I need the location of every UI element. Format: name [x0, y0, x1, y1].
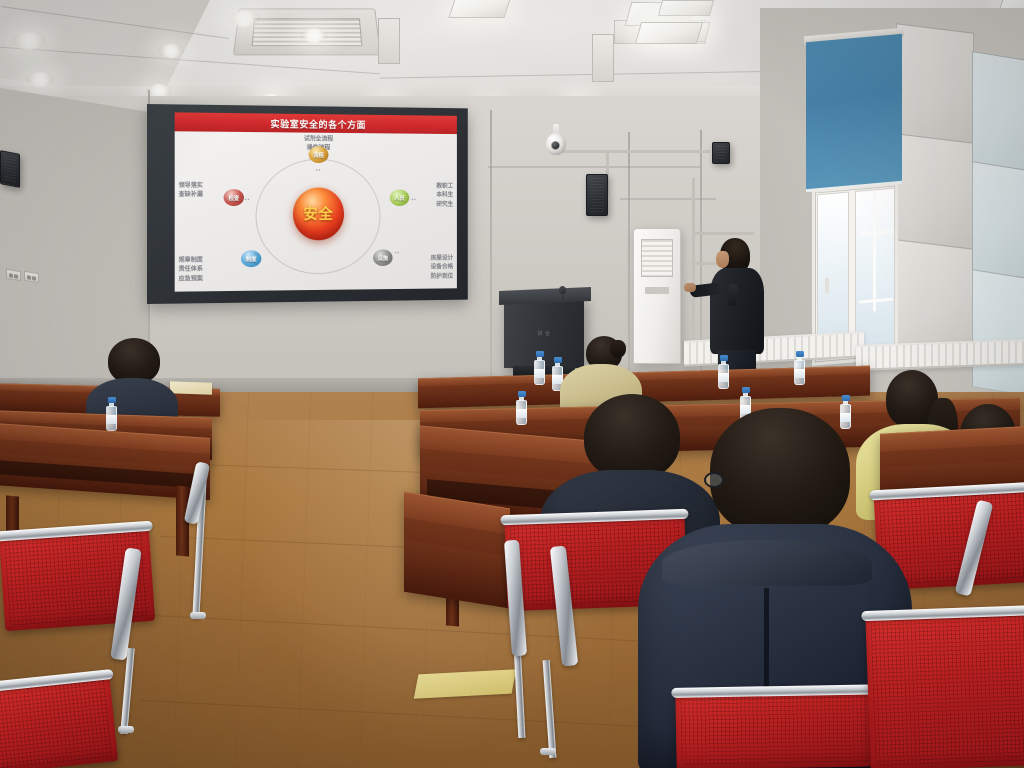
- bottle-label: [534, 369, 545, 378]
- panel-light: [635, 22, 703, 44]
- bottle-label: [106, 415, 117, 424]
- attendee-glasses: [704, 472, 724, 488]
- safety-core-label: 安全: [303, 203, 333, 224]
- presenter-torso: [710, 268, 764, 354]
- attendee-head: [710, 408, 850, 536]
- bottle-label: [718, 373, 729, 382]
- attendee-hair-bun: [610, 340, 626, 358]
- chair-mesh: [871, 614, 1024, 766]
- presenter: [706, 238, 780, 372]
- downlight: [12, 32, 46, 50]
- chair-foot: [118, 726, 134, 733]
- wall-speaker-right: [712, 142, 730, 164]
- downlight: [300, 28, 328, 43]
- slide-label-bottom-right: 房屋设计 设备合格 防护到位: [431, 254, 454, 281]
- ceiling-vent: [592, 34, 614, 82]
- bottle-cap: [796, 351, 804, 357]
- connector-dots: ••: [395, 250, 400, 256]
- speaker-mesh: [716, 146, 726, 160]
- panel-light: [658, 0, 714, 16]
- diagram-node-bottom-right: 设施: [373, 249, 393, 266]
- presenter-hand: [684, 283, 696, 292]
- wall-conduit: [694, 232, 754, 235]
- wall-panel-glass: [972, 269, 1024, 397]
- slide-title: 实验室安全的各个方面: [270, 116, 366, 131]
- water-bottle[interactable]: [516, 392, 527, 425]
- podium-top: [499, 287, 591, 305]
- slide-label-bottom-left: 规章制度 责任体系 应急预案: [179, 256, 203, 284]
- speaker-mesh: [590, 178, 604, 212]
- ac-display: [645, 287, 669, 294]
- mic-head: [559, 286, 566, 294]
- chair-mesh: [680, 693, 881, 764]
- slide-canvas: 实验室安全的各个方面 试剂全流程 操作流程 水电气 教职工 本科生 研究生 房屋…: [175, 112, 457, 291]
- desk-center-front: [404, 492, 510, 609]
- connector-dots: ••: [316, 168, 321, 174]
- ceiling-vent: [378, 18, 400, 64]
- bottle-cap: [842, 395, 850, 401]
- attendee-hood: [662, 540, 872, 586]
- chair-front-center[interactable]: [675, 688, 886, 768]
- window-mullion: [873, 191, 876, 311]
- ac-vent: [641, 239, 673, 277]
- water-bottle[interactable]: [718, 356, 729, 389]
- water-bottle[interactable]: [794, 352, 805, 385]
- bottle-cap: [518, 391, 526, 397]
- water-bottle[interactable]: [534, 352, 545, 385]
- podium-logo: 讲 台: [537, 330, 550, 337]
- wall-speaker-left: [0, 150, 20, 188]
- chair-mesh: [0, 679, 113, 768]
- wall-seam: [490, 110, 492, 380]
- camera-lens: [551, 141, 560, 150]
- chair-front-right[interactable]: [865, 609, 1024, 768]
- projection-screen[interactable]: 实验室安全的各个方面 试剂全流程 操作流程 水电气 教职工 本科生 研究生 房屋…: [147, 104, 468, 304]
- bottle-cap: [742, 387, 750, 393]
- attendee-dark-hoodie: [86, 338, 178, 420]
- slide-label-right: 教职工 本科生 研究生: [436, 182, 453, 209]
- bottle-cap: [720, 355, 728, 361]
- connector-dots: ••: [245, 197, 250, 203]
- speaker-mesh: [4, 155, 16, 183]
- wall-panel-glass: [972, 51, 1024, 173]
- diagram-node-left: 检查: [224, 189, 244, 206]
- connector-dots: ••: [255, 251, 260, 257]
- wall-panel-glass: [972, 161, 1024, 281]
- safety-core-sphere: 安全: [293, 187, 344, 240]
- water-bottle[interactable]: [106, 398, 117, 431]
- presenter-face: [716, 251, 729, 268]
- ptz-dome-camera: [546, 124, 566, 156]
- wall-seam: [620, 198, 716, 200]
- chair-foot: [540, 748, 556, 755]
- bottle-label: [516, 409, 527, 418]
- wall-panel: [896, 23, 974, 145]
- panel-light: [448, 0, 511, 18]
- window-handle[interactable]: [825, 277, 829, 293]
- diagram-node-top: 流程: [309, 146, 329, 163]
- lecture-hall-scene: 实验室安全的各个方面 试剂全流程 操作流程 水电气 教职工 本科生 研究生 房屋…: [0, 0, 1024, 768]
- chair-foot: [190, 612, 206, 619]
- wall-seam: [488, 166, 700, 168]
- gooseneck-microphone[interactable]: [556, 286, 570, 302]
- slide-body: 试剂全流程 操作流程 水电气 教职工 本科生 研究生 房屋设计 设备合格 防护到…: [175, 131, 457, 291]
- ceiling-seam: [380, 70, 800, 78]
- bottle-cap: [536, 351, 544, 357]
- window-blind[interactable]: [806, 34, 902, 192]
- slide-label-left: 领导落实 查缺补漏: [179, 181, 203, 200]
- wall-panel: [896, 133, 974, 251]
- wall-conduit: [560, 150, 710, 153]
- bottle-label: [794, 369, 805, 378]
- wall-speaker-center: [586, 174, 608, 216]
- diagram-node-right: 人员: [390, 189, 409, 205]
- chair-bottom-left[interactable]: [0, 673, 118, 768]
- downlight: [26, 72, 54, 87]
- downlight: [228, 10, 260, 27]
- connector-dots: ••: [412, 197, 417, 203]
- bottle-cap: [108, 397, 116, 403]
- downlight: [158, 44, 184, 58]
